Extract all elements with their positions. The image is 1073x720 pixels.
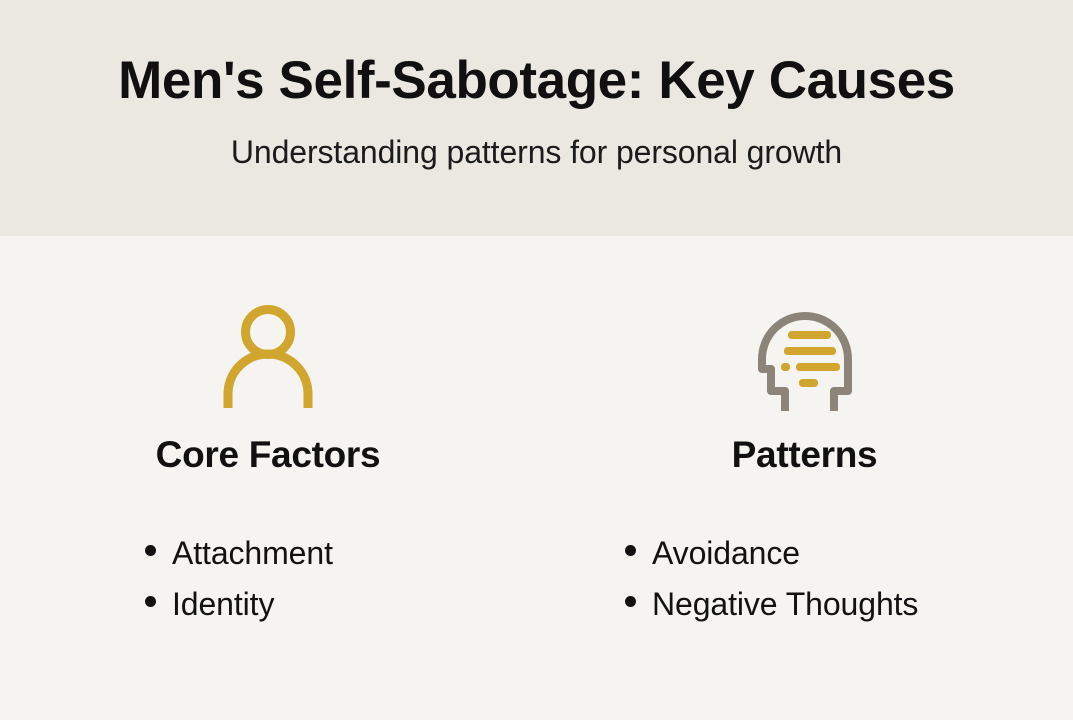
list-item-label: Attachment: [172, 528, 333, 579]
list-item: Attachment: [145, 528, 333, 579]
list-item-label: Avoidance: [652, 528, 800, 579]
list-item: Negative Thoughts: [625, 579, 918, 630]
column-heading-core-factors: Core Factors: [0, 435, 536, 476]
bullet-dot-icon: [625, 596, 636, 607]
bullet-dot-icon: [625, 545, 636, 556]
head-thoughts-icon: [536, 302, 1073, 414]
header-band: Men's Self-Sabotage: Key Causes Understa…: [0, 0, 1073, 236]
column-core-factors: Core Factors Attachment Identity: [0, 236, 536, 720]
bullet-dot-icon: [145, 545, 156, 556]
page-title: Men's Self-Sabotage: Key Causes: [0, 52, 1073, 109]
list-item: Avoidance: [625, 528, 918, 579]
bullet-list-core-factors: Attachment Identity: [145, 528, 333, 629]
column-patterns: Patterns Avoidance Negative Thoughts: [536, 236, 1073, 720]
person-icon: [0, 302, 536, 414]
page-subtitle: Understanding patterns for personal grow…: [0, 133, 1073, 171]
content-area: Core Factors Attachment Identity: [0, 236, 1073, 720]
list-item: Identity: [145, 579, 333, 630]
bullet-list-patterns: Avoidance Negative Thoughts: [625, 528, 918, 629]
list-item-label: Negative Thoughts: [652, 579, 918, 630]
column-heading-patterns: Patterns: [536, 435, 1073, 476]
bullet-dot-icon: [145, 596, 156, 607]
list-item-label: Identity: [172, 579, 274, 630]
slide-canvas: Men's Self-Sabotage: Key Causes Understa…: [0, 0, 1073, 720]
